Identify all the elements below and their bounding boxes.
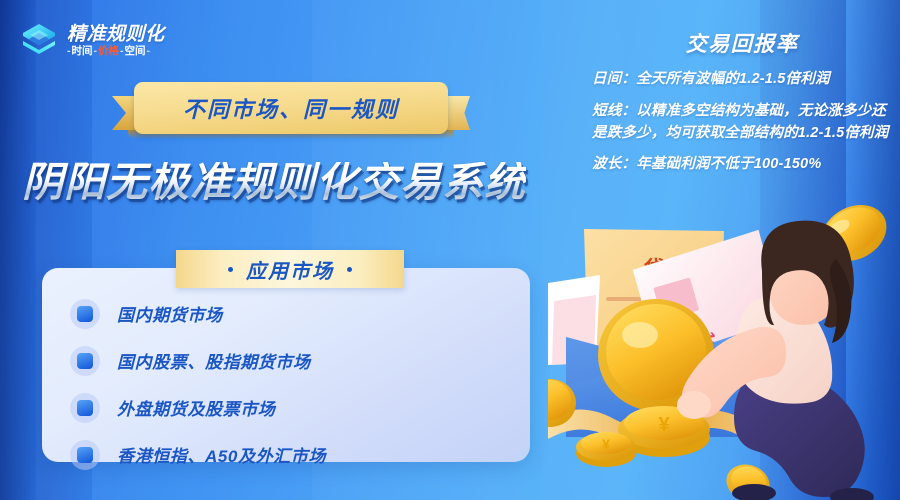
tagline-space: 空间 bbox=[125, 46, 146, 57]
market-label: 国内期货市场 bbox=[117, 301, 223, 326]
brand-name: 精准规则化 bbox=[67, 25, 165, 44]
brand-logo-text: 精准规则化 - 时间 - 价格 - 空间 - bbox=[67, 25, 165, 57]
list-item[interactable]: 香港恒指、A50及外汇市场 bbox=[70, 433, 510, 476]
bullet-square-icon bbox=[70, 346, 100, 376]
bullet-square-icon bbox=[70, 440, 100, 470]
list-item[interactable]: 国内期货市场 bbox=[70, 292, 510, 335]
list-item[interactable]: 外盘期货及股票市场 bbox=[70, 386, 510, 429]
brand-logo: 精准规则化 - 时间 - 价格 - 空间 - bbox=[18, 20, 165, 62]
badge-dot-left-icon bbox=[228, 267, 233, 272]
poster-canvas: 精准规则化 - 时间 - 价格 - 空间 - 不同市场、同一规则 阴阳无极准规则… bbox=[0, 0, 900, 500]
market-label: 国内股票、股指期货市场 bbox=[117, 348, 311, 373]
returns-line-shortterm: 短线：以精准多空结构为基础，无论涨多少还是跌多少，均可获取全部结构的1.2-1.… bbox=[592, 101, 892, 145]
market-label: 香港恒指、A50及外汇市场 bbox=[117, 442, 326, 467]
application-market-badge: 应用市场 bbox=[176, 250, 404, 288]
svg-text:¥: ¥ bbox=[602, 436, 610, 452]
returns-line-intraday: 日间：全天所有波幅的1.2-1.5倍利润 bbox=[592, 69, 892, 91]
page-title: 阴阳无极准规则化交易系统 bbox=[22, 162, 526, 203]
badge-title: 应用市场 bbox=[246, 255, 334, 284]
tagline-sep-end: - bbox=[147, 46, 151, 57]
background-band-edge-left bbox=[0, 0, 36, 500]
hexagon-layers-logo-icon bbox=[18, 20, 60, 62]
returns-section: 交易回报率 日间：全天所有波幅的1.2-1.5倍利润 短线：以精准多空结构为基础… bbox=[592, 28, 892, 176]
market-label: 外盘期货及股票市场 bbox=[117, 395, 275, 420]
market-list: 国内期货市场 国内股票、股指期货市场 外盘期货及股票市场 香港恒指、A50及外汇… bbox=[70, 292, 510, 480]
woman-with-money-envelope-illustration: 袋惠 100 bbox=[548, 205, 900, 500]
svg-text:¥: ¥ bbox=[658, 414, 670, 436]
tagline-sep-start: - bbox=[67, 46, 71, 57]
bullet-square-icon bbox=[70, 393, 100, 423]
returns-line-wavelength: 波长：年基础利润不低于100-150% bbox=[592, 154, 892, 176]
ribbon-label: 不同市场、同一规则 bbox=[183, 92, 399, 124]
badge-inner: 应用市场 bbox=[176, 250, 404, 288]
badge-dot-right-icon bbox=[347, 267, 352, 272]
tagline-sep-1: - bbox=[94, 46, 98, 57]
ribbon-body: 不同市场、同一规则 bbox=[134, 82, 448, 134]
tagline-sep-2: - bbox=[120, 46, 124, 57]
tagline-time: 时间 bbox=[72, 46, 93, 57]
list-item[interactable]: 国内股票、股指期货市场 bbox=[70, 339, 510, 382]
bullet-square-icon bbox=[70, 299, 100, 329]
slogan-ribbon: 不同市场、同一规则 bbox=[112, 82, 470, 138]
returns-title: 交易回报率 bbox=[592, 28, 892, 58]
brand-tagline: - 时间 - 价格 - 空间 - bbox=[67, 46, 165, 57]
tagline-price: 价格 bbox=[98, 46, 119, 57]
